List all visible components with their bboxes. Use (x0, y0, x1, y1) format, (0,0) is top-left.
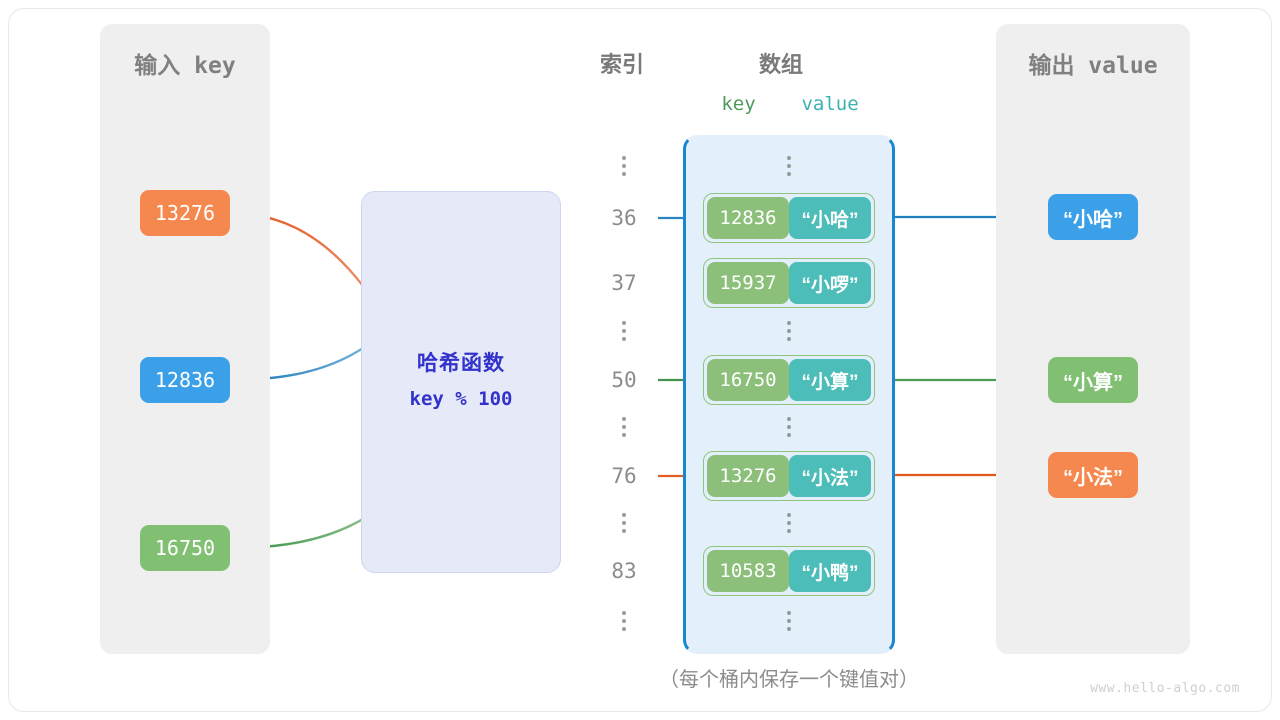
array-column-heading: 数组 (759, 47, 803, 79)
bucket-key: 10583 (707, 550, 789, 592)
output-value-box: “小算” (1048, 357, 1138, 403)
bucket-value: “小鸭” (789, 550, 871, 592)
key-heading-label: key (721, 93, 755, 115)
index-label: 83 (596, 559, 652, 583)
index-label: 50 (596, 368, 652, 392)
output-value-panel: 输出 value (996, 24, 1190, 654)
watermark: www.hello-algo.com (1090, 681, 1240, 696)
output-value-box: “小法” (1048, 452, 1138, 498)
index-ellipsis (596, 152, 652, 180)
hash-function-title: 哈希函数 (362, 347, 560, 377)
diagram-caption: （每个桶内保存一个键值对） (639, 663, 939, 692)
array-ellipsis (761, 152, 817, 180)
index-column-heading: 索引 (600, 47, 644, 79)
index-label: 76 (596, 464, 652, 488)
bucket-row: 15937“小啰” (703, 258, 875, 308)
array-ellipsis (761, 607, 817, 635)
bucket-row: 10583“小鸭” (703, 546, 875, 596)
diagram-canvas: 输入 key 输出 value 哈希函数 key % 100 索引 数组 key… (0, 0, 1280, 720)
input-panel-title: 输入 key (100, 46, 270, 80)
bucket-key: 13276 (707, 455, 789, 497)
array-ellipsis (761, 413, 817, 441)
bucket-value: “小算” (789, 359, 871, 401)
output-panel-title: 输出 value (996, 46, 1190, 80)
array-ellipsis (761, 317, 817, 345)
input-key-box: 16750 (140, 525, 230, 571)
key-value-heading: key value (690, 93, 890, 115)
bucket-row: 12836“小哈” (703, 193, 875, 243)
index-ellipsis (596, 317, 652, 345)
bucket-key: 16750 (707, 359, 789, 401)
bucket-value: “小哈” (789, 197, 871, 239)
index-label: 37 (596, 271, 652, 295)
bucket-row: 13276“小法” (703, 451, 875, 501)
input-key-box: 13276 (140, 190, 230, 236)
bucket-value: “小法” (789, 455, 871, 497)
index-ellipsis (596, 509, 652, 537)
hash-function-box: 哈希函数 key % 100 (361, 191, 561, 573)
output-value-box: “小哈” (1048, 194, 1138, 240)
index-ellipsis (596, 413, 652, 441)
value-heading-label: value (801, 93, 858, 115)
index-ellipsis (596, 607, 652, 635)
bucket-key: 12836 (707, 197, 789, 239)
hash-function-formula: key % 100 (362, 388, 560, 410)
bucket-value: “小啰” (789, 262, 871, 304)
input-key-box: 12836 (140, 357, 230, 403)
bucket-key: 15937 (707, 262, 789, 304)
array-ellipsis (761, 509, 817, 537)
bucket-row: 16750“小算” (703, 355, 875, 405)
index-label: 36 (596, 206, 652, 230)
